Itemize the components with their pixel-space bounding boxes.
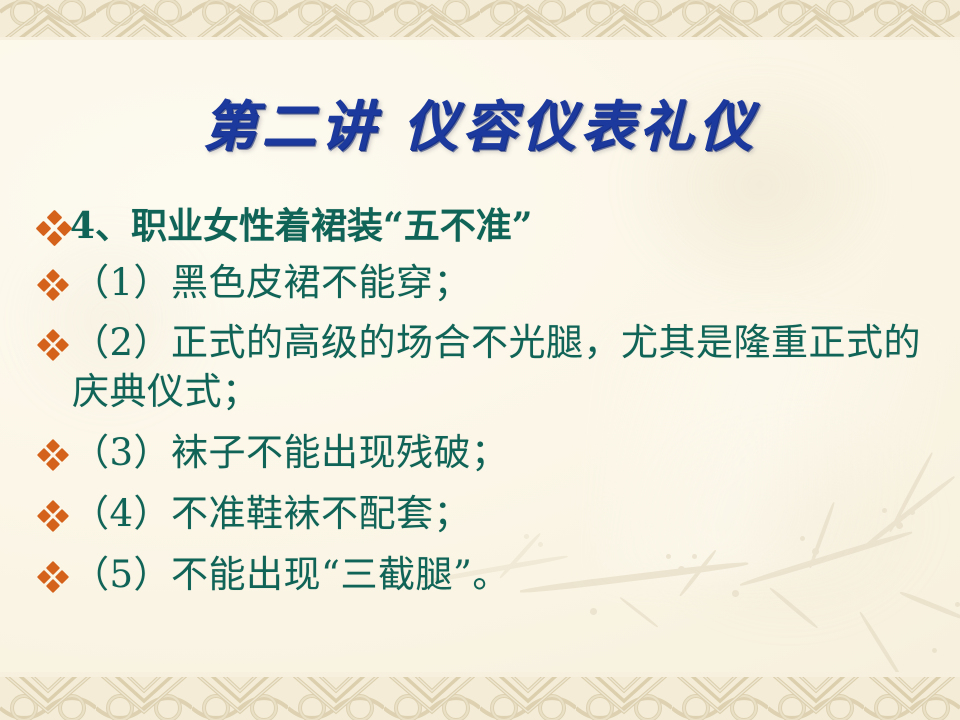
diamond-cluster-bullet-icon bbox=[38, 562, 68, 592]
list-item-text: （1）黑色皮裙不能穿； bbox=[68, 259, 934, 308]
list-item: （3）袜子不能出现残破； bbox=[38, 429, 934, 478]
bullet-list: 4、职业女性着裙装“五不准” （1）黑色皮裙不能穿； （2）正式的高级的场合不光… bbox=[38, 203, 934, 599]
list-item: （1）黑色皮裙不能穿； bbox=[38, 259, 934, 308]
presentation-slide: 第二讲 仪容仪表礼仪 4、职业女性着裙装“五不准” （1）黑色皮裙不能穿； （2… bbox=[0, 0, 960, 720]
decorative-border-top bbox=[0, 0, 960, 40]
diamond-cluster-bullet-icon bbox=[38, 212, 70, 244]
list-item-text: （2）正式的高级的场合不光腿，尤其是隆重正式的庆典仪式； bbox=[68, 319, 934, 417]
list-item: （4）不准鞋袜不配套； bbox=[38, 490, 934, 539]
slide-title: 第二讲 仪容仪表礼仪 bbox=[0, 82, 960, 161]
diamond-cluster-bullet-icon bbox=[38, 501, 68, 531]
diamond-cluster-bullet-icon bbox=[38, 270, 68, 300]
decorative-border-bottom bbox=[0, 672, 960, 720]
list-item-text: （4）不准鞋袜不配套； bbox=[68, 490, 934, 539]
list-item: 4、职业女性着裙装“五不准” bbox=[38, 203, 934, 251]
list-item-text: （5）不能出现“三截腿”。 bbox=[68, 551, 934, 600]
diamond-cluster-bullet-icon bbox=[38, 440, 68, 470]
list-item: （5）不能出现“三截腿”。 bbox=[38, 551, 934, 600]
list-item-text: 4、职业女性着裙装“五不准” bbox=[70, 203, 934, 251]
list-item: （2）正式的高级的场合不光腿，尤其是隆重正式的庆典仪式； bbox=[38, 319, 934, 417]
diamond-cluster-bullet-icon bbox=[38, 330, 68, 360]
list-item-text: （3）袜子不能出现残破； bbox=[68, 429, 934, 478]
